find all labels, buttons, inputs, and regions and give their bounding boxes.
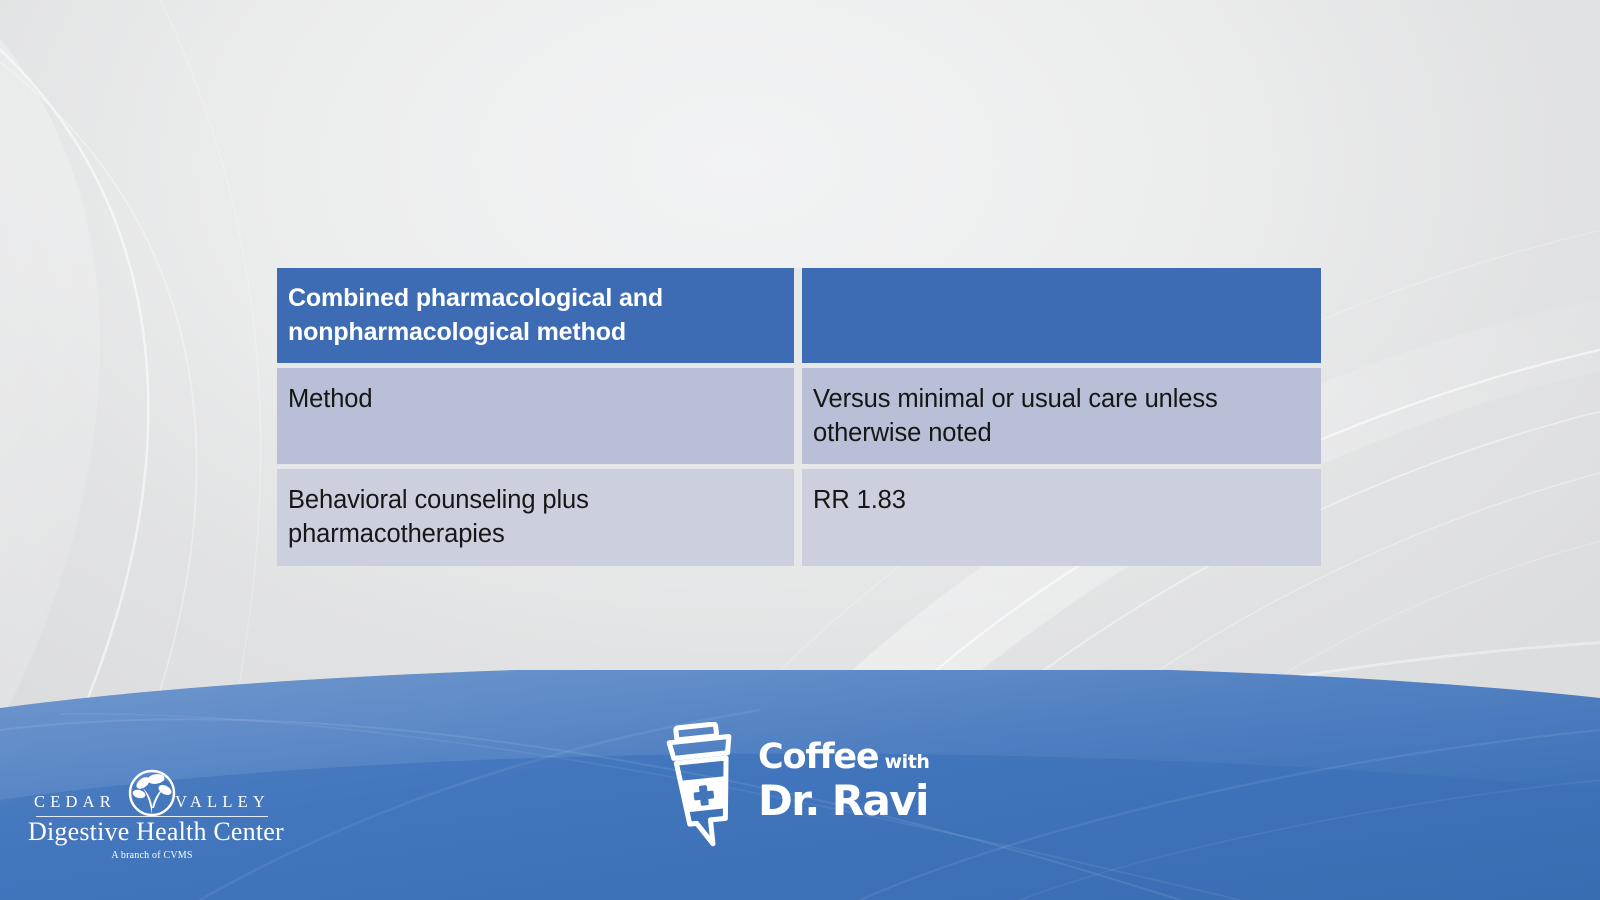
table-header-cell-comparator <box>802 268 1321 363</box>
table-cell-method-label: Method <box>277 368 802 464</box>
table-cell-comparator-note: Versus minimal or usual care unless othe… <box>802 368 1321 464</box>
table-header-label-col1: Combined pharmacological and nonpharmaco… <box>288 282 794 349</box>
clinic-logo-name: Digestive Health Center <box>28 817 276 847</box>
show-logo-text: Coffeewith Dr. Ravi <box>758 740 930 822</box>
clinic-logo-topwords: CEDAR VALLEY <box>28 792 276 812</box>
show-logo-line2: Dr. Ravi <box>758 780 930 822</box>
table-header-cell-method-group: Combined pharmacological and nonpharmaco… <box>277 268 802 363</box>
clinic-logo-word-right: VALLEY <box>175 792 270 812</box>
table-row: Method Versus minimal or usual care unle… <box>277 368 1321 464</box>
table-header-row: Combined pharmacological and nonpharmaco… <box>277 268 1321 363</box>
show-logo-word-with: with <box>884 751 929 773</box>
show-logo-word-coffee: Coffee <box>758 737 878 777</box>
clinic-logo-tagline: A branch of CVMS <box>28 850 276 861</box>
table-row: Behavioral counseling plus pharmacothera… <box>277 469 1321 565</box>
table-cell-text: Behavioral counseling plus pharmacothera… <box>288 483 794 551</box>
coffee-cup-speech-bubble-icon <box>660 722 756 852</box>
table-cell-text: Versus minimal or usual care unless othe… <box>813 382 1321 450</box>
table-cell-text: Method <box>288 382 794 416</box>
show-logo-line1: Coffeewith <box>758 740 930 775</box>
table-header-label-col2 <box>813 282 1321 283</box>
clinic-logo-word-left: CEDAR <box>34 792 116 812</box>
table-cell-intervention: Behavioral counseling plus pharmacothera… <box>277 469 802 565</box>
clinic-logo: CEDAR VALLEY Digestive Health Center A b… <box>28 770 276 866</box>
show-logo: Coffeewith Dr. Ravi <box>660 722 930 852</box>
table-cell-text: RR 1.83 <box>813 483 1321 517</box>
slide-canvas: Combined pharmacological and nonpharmaco… <box>0 0 1600 900</box>
table-cell-result: RR 1.83 <box>802 469 1321 565</box>
comparison-table: Combined pharmacological and nonpharmaco… <box>277 268 1321 566</box>
